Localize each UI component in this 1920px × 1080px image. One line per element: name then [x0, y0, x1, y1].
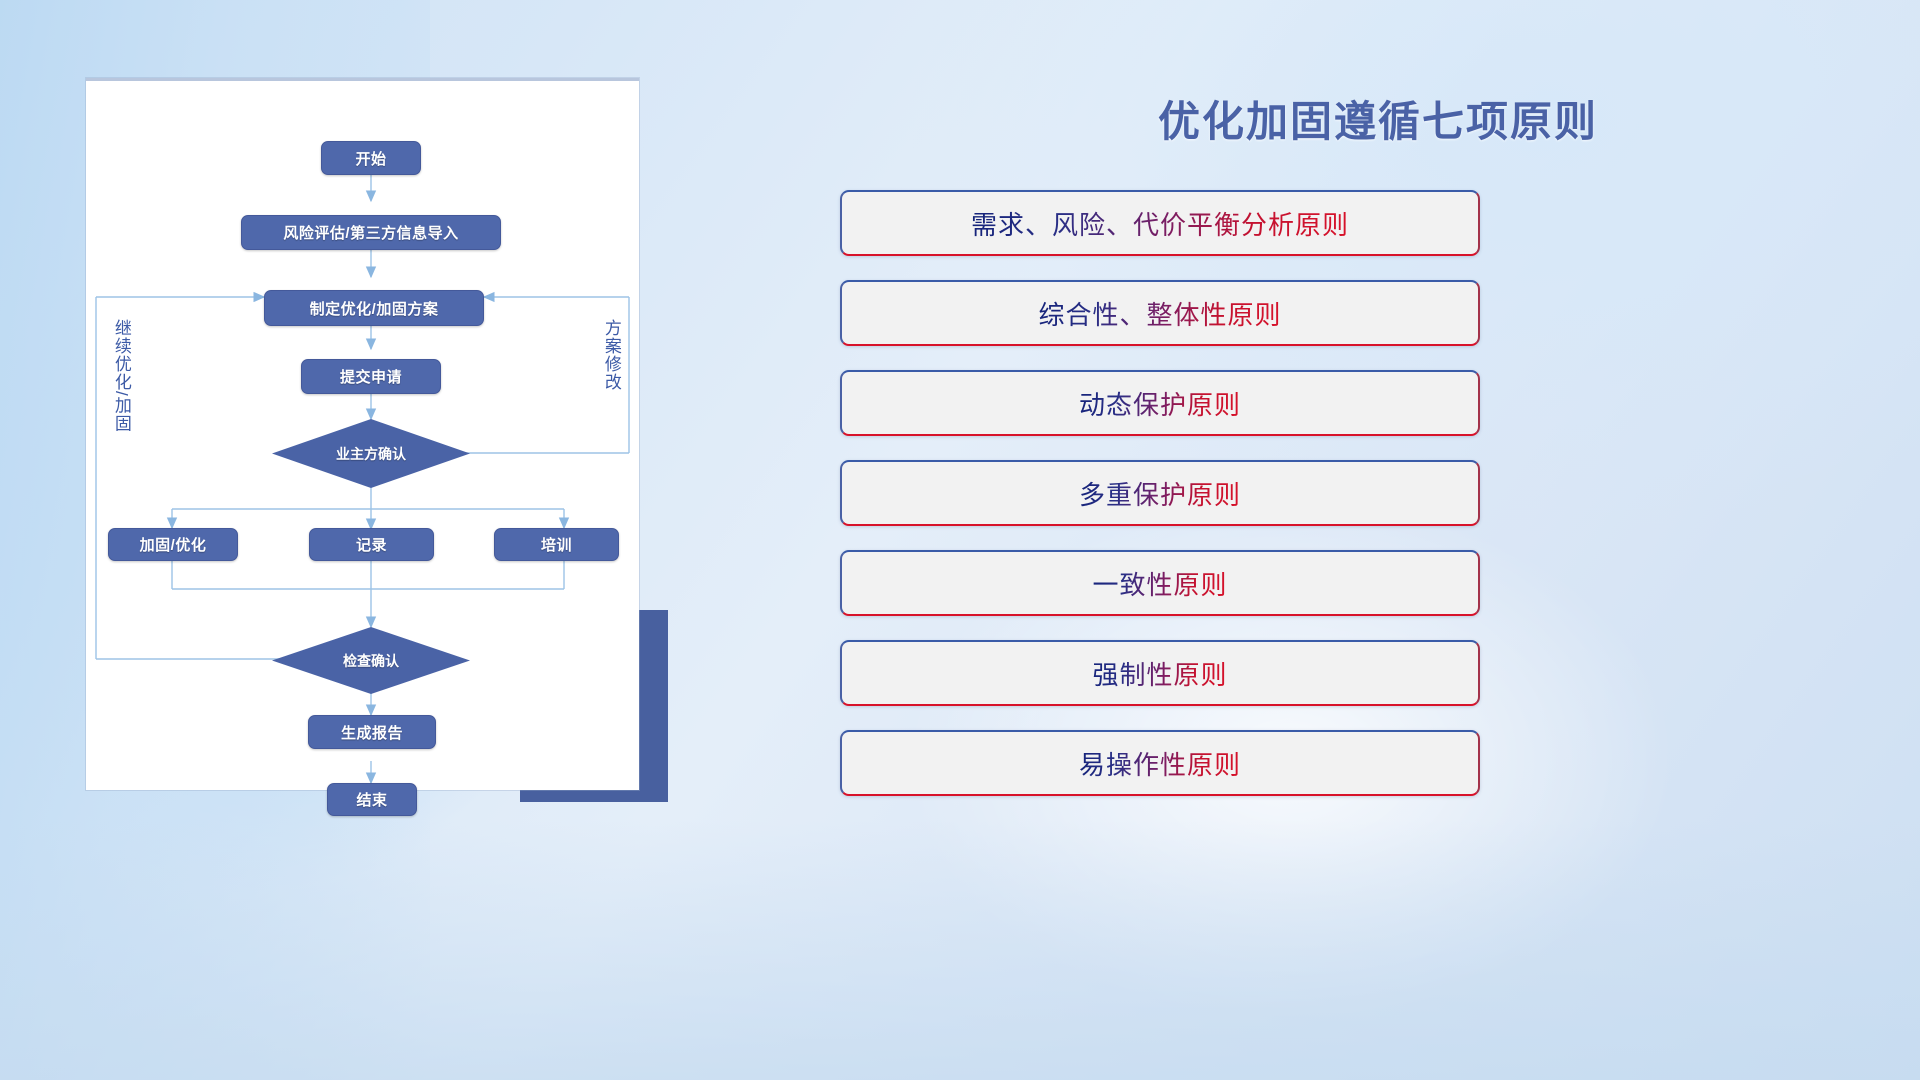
- flow-node-owner-confirm[interactable]: 业主方确认: [272, 419, 470, 488]
- flow-node-check-confirm[interactable]: 检查确认: [272, 627, 470, 694]
- flow-node-plan[interactable]: 制定优化/加固方案: [264, 290, 484, 326]
- principle-item-6-label: 强制性原则: [1092, 655, 1227, 692]
- flow-node-end-label: 结束: [356, 789, 387, 810]
- principle-item-5-label: 一致性原则: [1092, 565, 1227, 602]
- flow-node-generate-report-label: 生成报告: [341, 722, 403, 743]
- principle-item-3[interactable]: 动态保护原则: [840, 370, 1480, 436]
- principle-item-6[interactable]: 强制性原则: [840, 640, 1480, 706]
- principle-item-5[interactable]: 一致性原则: [840, 550, 1480, 616]
- flowchart-diagram: 开始 风险评估/第三方信息导入 制定优化/加固方案 提交申请 业主方确认 加固/…: [86, 81, 639, 793]
- principle-item-2-label: 综合性、整体性原则: [1038, 295, 1281, 332]
- flow-node-record[interactable]: 记录: [309, 528, 434, 561]
- flow-node-generate-report[interactable]: 生成报告: [308, 715, 436, 749]
- flow-node-risk-assessment-label: 风险评估/第三方信息导入: [283, 222, 458, 243]
- principle-item-1[interactable]: 需求、风险、代价平衡分析原则: [840, 190, 1480, 256]
- flow-node-submit-application[interactable]: 提交申请: [301, 359, 441, 394]
- flow-edge-label-right-loop: 方案修改: [602, 319, 620, 419]
- flow-node-submit-application-label: 提交申请: [340, 366, 402, 387]
- flow-node-record-label: 记录: [356, 534, 387, 555]
- principle-item-7-label: 易操作性原则: [1079, 745, 1241, 782]
- flow-node-end[interactable]: 结束: [327, 783, 417, 816]
- flow-node-training[interactable]: 培训: [494, 528, 619, 561]
- flow-node-reinforce[interactable]: 加固/优化: [108, 528, 238, 561]
- flow-node-start-label: 开始: [355, 148, 386, 169]
- principle-item-2[interactable]: 综合性、整体性原则: [840, 280, 1480, 346]
- page-title: 优化加固遵循七项原则: [836, 88, 1920, 149]
- principle-item-1-label: 需求、风险、代价平衡分析原则: [971, 205, 1349, 242]
- flow-node-start[interactable]: 开始: [321, 141, 421, 175]
- flow-node-plan-label: 制定优化/加固方案: [310, 298, 439, 319]
- flow-edge-label-left-loop: 继续优化/加固: [112, 319, 130, 459]
- flow-node-risk-assessment[interactable]: 风险评估/第三方信息导入: [241, 215, 501, 250]
- principle-item-3-label: 动态保护原则: [1079, 385, 1241, 422]
- principles-list: 需求、风险、代价平衡分析原则 综合性、整体性原则 动态保护原则 多重保护原则 一…: [836, 190, 1920, 820]
- principle-item-4[interactable]: 多重保护原则: [840, 460, 1480, 526]
- principle-item-7[interactable]: 易操作性原则: [840, 730, 1480, 796]
- flowchart-card: 开始 风险评估/第三方信息导入 制定优化/加固方案 提交申请 业主方确认 加固/…: [86, 78, 639, 790]
- principles-panel: 优化加固遵循七项原则 需求、风险、代价平衡分析原则 综合性、整体性原则 动态保护…: [836, 0, 1920, 1080]
- flow-node-training-label: 培训: [541, 534, 572, 555]
- principle-item-4-label: 多重保护原则: [1079, 475, 1241, 512]
- flow-node-reinforce-label: 加固/优化: [140, 534, 207, 555]
